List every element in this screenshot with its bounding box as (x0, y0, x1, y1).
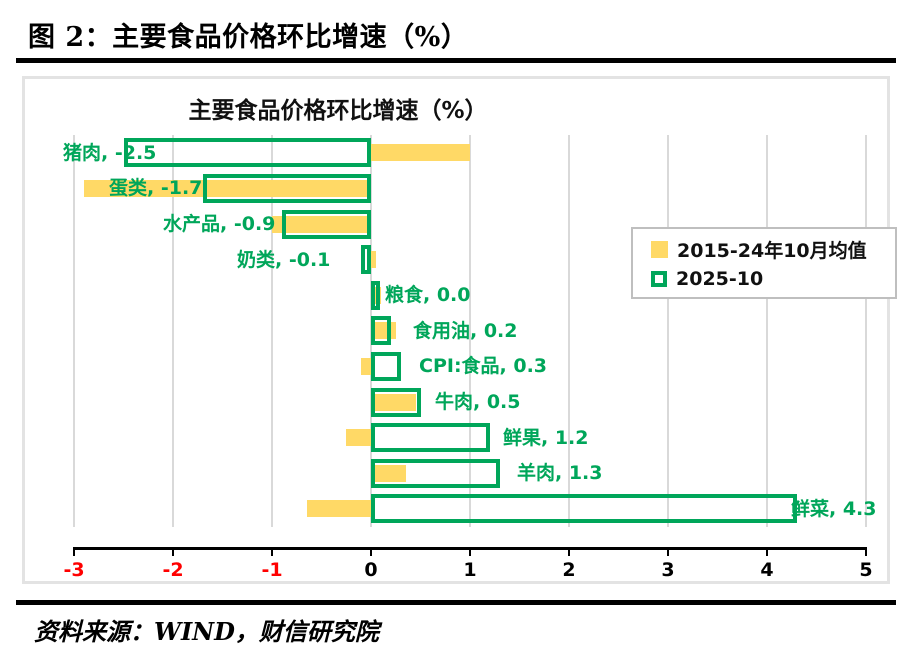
legend-swatch-filled-square-icon (651, 241, 668, 258)
data-label-水产品: 水产品, -0.9 (163, 215, 275, 234)
data-label-奶类: 奶类, -0.1 (237, 251, 330, 270)
legend-swatch-outlined-square-icon (651, 271, 667, 287)
chart-legend: 2015-24年10月均值 2025-10 (631, 227, 897, 299)
x-tick-label-1: 1 (463, 559, 476, 581)
data-label-鲜果: 鲜果, 1.2 (503, 429, 589, 448)
x-tick-label--1: -1 (261, 559, 282, 581)
x-tick-label--2: -2 (162, 559, 183, 581)
header-divider (16, 58, 896, 63)
x-tick-label-3: 3 (661, 559, 674, 581)
bar-current-猪肉 (124, 138, 372, 167)
bar-current-CPI:食品 (371, 352, 401, 381)
data-label-粮食: 粮食, 0.0 (385, 286, 471, 305)
bar-current-奶类 (361, 245, 371, 274)
x-tick-label--3: -3 (63, 559, 84, 581)
data-label-牛肉: 牛肉, 0.5 (435, 393, 521, 412)
bar-current-牛肉 (371, 388, 421, 417)
data-label-蛋类: 蛋类, -1.7 (109, 179, 202, 198)
data-label-食用油: 食用油, 0.2 (413, 322, 518, 341)
bar-current-水产品 (282, 210, 371, 239)
figure-header: 图 2：主要食品价格环比增速（%） (28, 10, 884, 58)
bar-current-食用油 (371, 316, 391, 345)
x-tick-label-4: 4 (760, 559, 773, 581)
bar-average-CPI:食品 (361, 358, 371, 375)
x-tick-4 (766, 547, 768, 556)
data-label-鲜菜: 鲜菜, 4.3 (791, 500, 877, 519)
bar-current-鲜菜 (371, 494, 797, 523)
chart-container: 主要食品价格环比增速（%） -3-2-1012345猪肉, -2.5蛋类, -1… (22, 76, 890, 584)
footer-divider (16, 600, 896, 605)
bar-current-羊肉 (371, 459, 500, 488)
bar-current-粮食 (371, 281, 380, 310)
data-label-羊肉: 羊肉, 1.3 (517, 464, 603, 483)
data-label-CPI:食品: CPI:食品, 0.3 (419, 357, 547, 376)
legend-item-current: 2025-10 (651, 264, 895, 293)
bar-current-蛋类 (203, 174, 371, 203)
x-tick-label-2: 2 (562, 559, 575, 581)
x-tick--2 (172, 547, 174, 556)
x-tick-label-5: 5 (859, 559, 872, 581)
x-tick-2 (568, 547, 570, 556)
gridline-5 (865, 135, 867, 527)
gridline--3 (73, 135, 75, 527)
plot-area: -3-2-1012345猪肉, -2.5蛋类, -1.7水产品, -0.9奶类,… (25, 79, 887, 581)
legend-label-current: 2025-10 (676, 268, 763, 290)
x-tick-1 (469, 547, 471, 556)
source-note: 资料来源：WIND，财信研究院 (34, 612, 379, 647)
x-tick-5 (865, 547, 867, 556)
x-tick-3 (667, 547, 669, 556)
x-tick-0 (370, 547, 372, 556)
data-label-猪肉: 猪肉, -2.5 (63, 144, 156, 163)
legend-item-average: 2015-24年10月均值 (651, 235, 895, 264)
x-tick-label-0: 0 (364, 559, 377, 581)
x-tick--1 (271, 547, 273, 556)
x-tick--3 (73, 547, 75, 556)
bar-average-鲜果 (346, 429, 371, 446)
bar-average-猪肉 (371, 144, 470, 161)
gridline-4 (766, 135, 768, 527)
bar-average-奶类 (371, 251, 376, 268)
legend-label-average: 2015-24年10月均值 (677, 236, 867, 263)
bar-current-鲜果 (371, 423, 490, 452)
page-title: 图 2：主要食品价格环比增速（%） (28, 15, 468, 54)
bar-average-鲜菜 (307, 500, 371, 517)
gridline-3 (667, 135, 669, 527)
